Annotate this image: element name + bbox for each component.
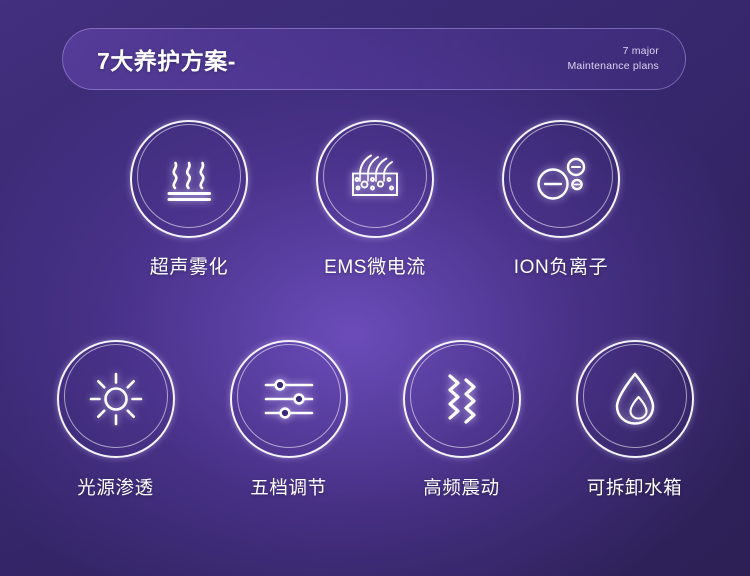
feature-badge xyxy=(316,120,434,238)
header-banner: 7大养护方案- 7 major Maintenance plans xyxy=(62,28,686,90)
feature-row-bottom: 光源渗透 五档调节 xyxy=(0,340,750,500)
feature-badge xyxy=(576,340,694,458)
feature-label: 光源渗透 xyxy=(77,474,153,500)
vibration-wave-icon xyxy=(431,368,493,430)
negative-ion-icon xyxy=(530,148,592,210)
feature-item-detachable-water-tank[interactable]: 可拆卸水箱 xyxy=(548,340,721,500)
feature-item-ion-negative-ions[interactable]: ION负离子 xyxy=(468,120,654,279)
feature-badge xyxy=(403,340,521,458)
feature-badge xyxy=(57,340,175,458)
sun-icon xyxy=(85,368,147,430)
feature-label: ION负离子 xyxy=(514,252,608,279)
water-drop-icon xyxy=(604,368,666,430)
feature-label: 可拆卸水箱 xyxy=(587,474,683,500)
header-subtitle-line2: Maintenance plans xyxy=(567,59,659,74)
feature-badge xyxy=(230,340,348,458)
steam-icon xyxy=(158,148,220,210)
feature-item-five-gear-adjustment[interactable]: 五档调节 xyxy=(202,340,375,500)
feature-badge xyxy=(130,120,248,238)
sliders-icon xyxy=(258,368,320,430)
page-title: 7大养护方案- xyxy=(97,42,236,76)
feature-label: 高频震动 xyxy=(423,474,499,500)
feature-item-ems-microcurrent[interactable]: EMS微电流 xyxy=(282,120,468,279)
header-subtitle-line1: 7 major xyxy=(567,44,659,59)
header-subtitle-en: 7 major Maintenance plans xyxy=(567,44,659,74)
feature-label: EMS微电流 xyxy=(324,252,426,279)
feature-label: 超声雾化 xyxy=(150,252,228,279)
feature-label: 五档调节 xyxy=(250,474,326,500)
hair-follicle-icon xyxy=(344,148,406,210)
feature-item-ultrasonic-atomization[interactable]: 超声雾化 xyxy=(96,120,282,279)
feature-row-top: 超声雾化 xyxy=(0,120,750,279)
feature-badge xyxy=(502,120,620,238)
feature-item-high-frequency-vibration[interactable]: 高频震动 xyxy=(375,340,548,500)
feature-item-light-penetration[interactable]: 光源渗透 xyxy=(29,340,202,500)
feature-infographic-page: 7大养护方案- 7 major Maintenance plans xyxy=(0,0,750,576)
